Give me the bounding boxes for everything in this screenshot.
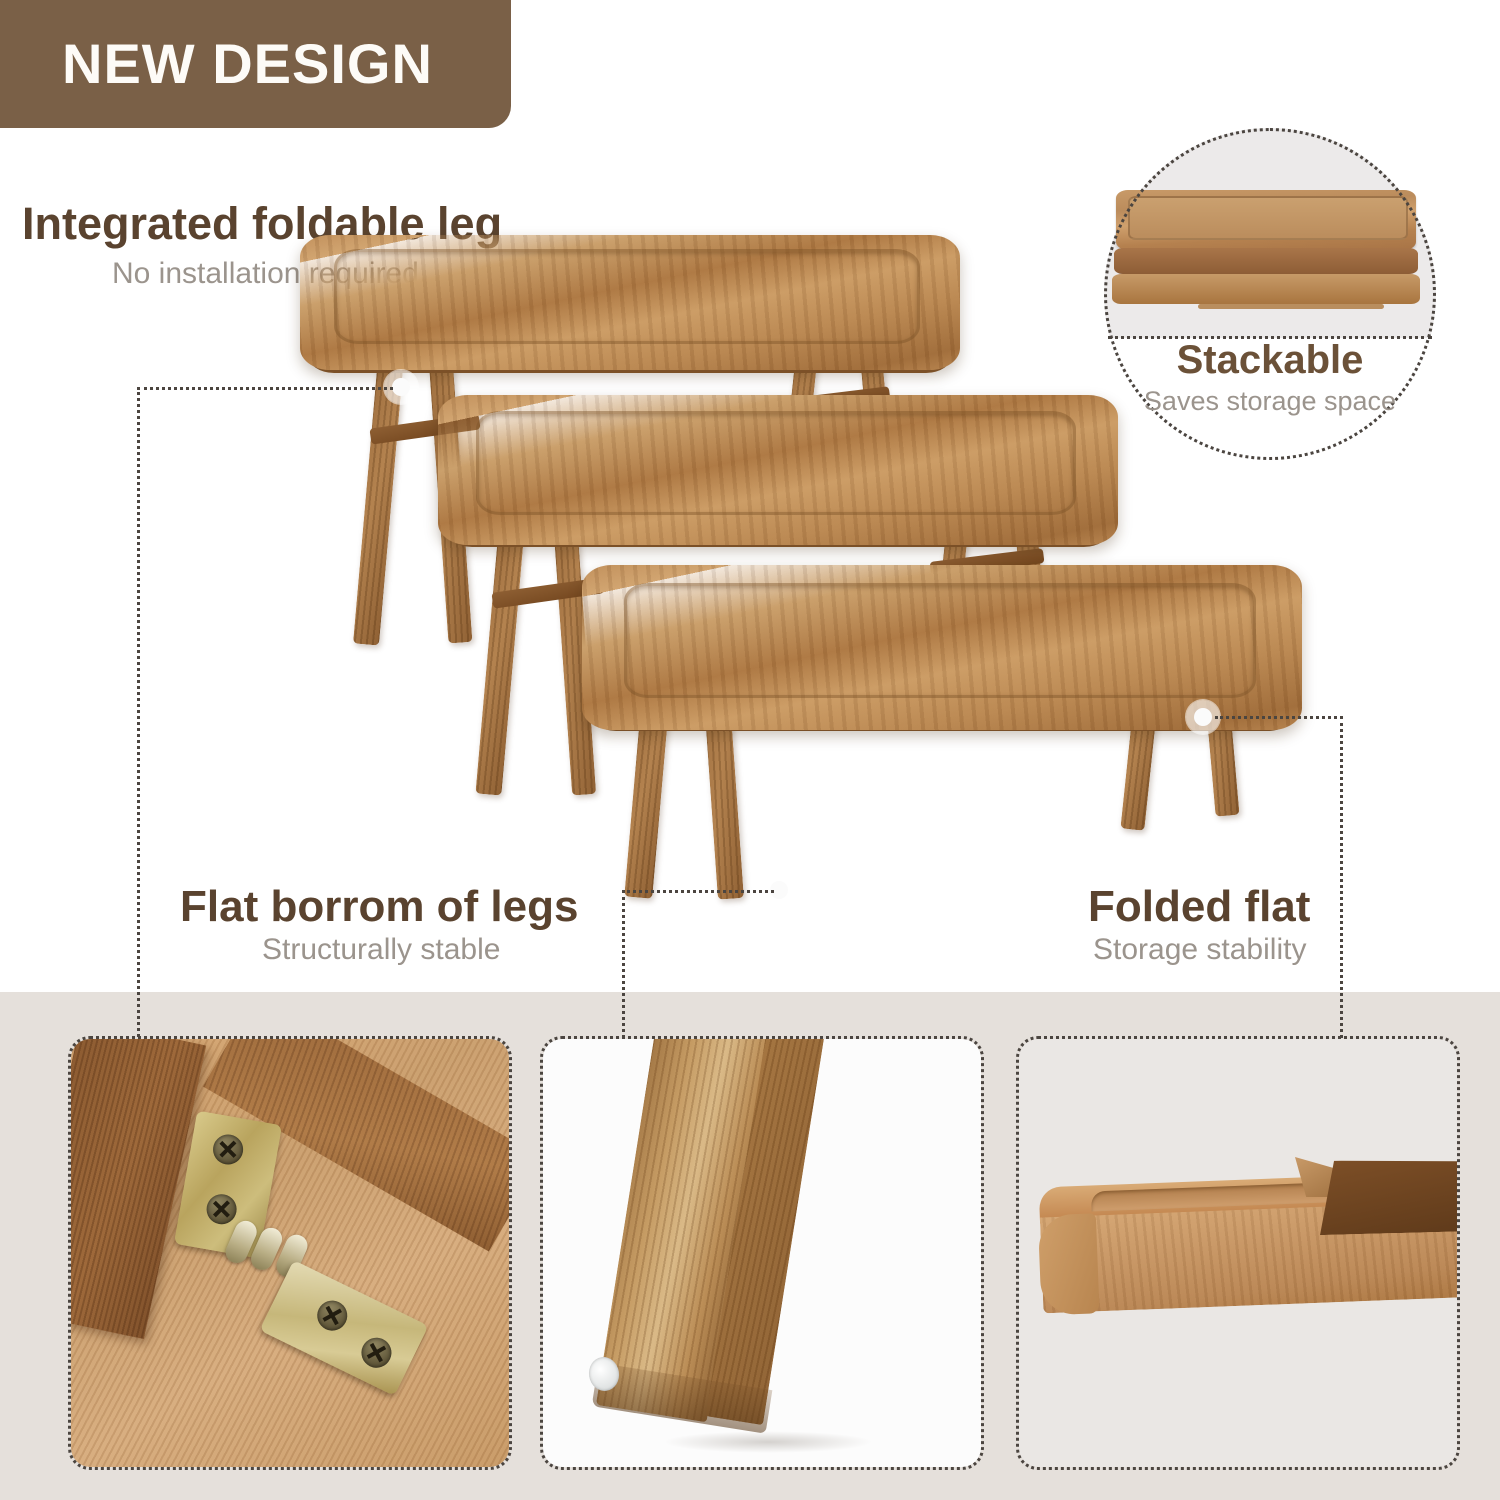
folded-photo-inner: [1019, 1039, 1457, 1467]
leg-photo-inner: [543, 1039, 981, 1467]
connector-line-flat-bottom-vertical: [622, 890, 625, 1038]
hinge-screw-2: [204, 1192, 239, 1227]
hinge-screw-1: [211, 1132, 246, 1167]
connector-line-flat-bottom-horizontal: [622, 890, 774, 893]
hinge-photo-inner: [71, 1039, 509, 1467]
product-illustration: [270, 225, 1370, 905]
leg-photo-shadow: [663, 1431, 873, 1453]
detail-photo-hinge-closeup: [68, 1036, 512, 1470]
detail-photo-leg-bottom-closeup: [540, 1036, 984, 1470]
hinge-screw-3: [312, 1296, 352, 1336]
connector-line-foldable-leg-horizontal: [137, 387, 393, 390]
hinge-screw-4: [356, 1333, 396, 1373]
folded-photo-board-rounded-corner: [1038, 1213, 1100, 1315]
tier2-leg-front-left: [475, 504, 526, 795]
tier2-tray-groove: [476, 411, 1076, 515]
tier1-tray: [300, 235, 960, 370]
tier3-tray-groove: [624, 583, 1256, 698]
detail-photo-folded-edge-closeup: [1016, 1036, 1460, 1470]
folded-photo-folded-leg: [1318, 1157, 1457, 1235]
infographic-canvas: NEW DESIGN Integrated foldable leg No in…: [0, 0, 1500, 1500]
new-design-badge-label: NEW DESIGN: [62, 36, 433, 92]
callout-subtitle-flat-bottom-of-legs: Structurally stable: [262, 934, 500, 966]
callout-subtitle-folded-flat: Storage stability: [1093, 934, 1306, 966]
connector-line-folded-flat-vertical: [1340, 716, 1343, 1038]
connector-line-folded-flat-horizontal: [1215, 716, 1343, 719]
new-design-badge: NEW DESIGN: [0, 0, 511, 128]
tier1-tray-groove: [334, 249, 920, 344]
tier2-tray: [438, 395, 1118, 545]
connector-line-foldable-leg-vertical: [137, 387, 140, 1037]
